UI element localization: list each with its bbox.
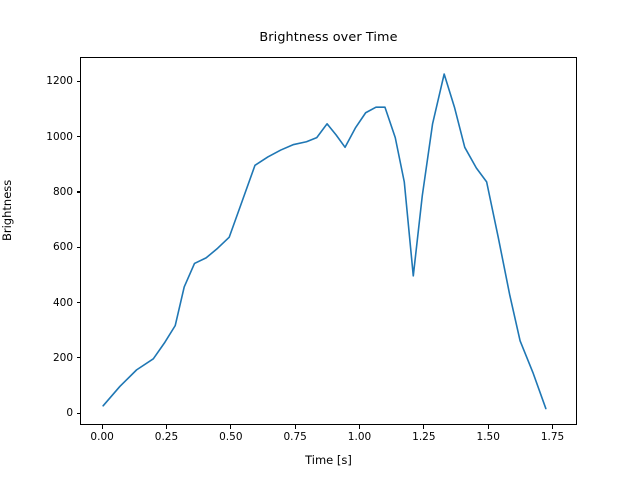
y-tick-mark	[77, 247, 81, 248]
y-tick-mark	[77, 413, 81, 414]
x-tick-mark	[488, 425, 489, 429]
y-tick-label: 400	[53, 297, 73, 309]
figure-canvas: Brightness over Time 0.000.250.500.751.0…	[0, 0, 640, 480]
x-tick-label: 0.25	[155, 431, 178, 443]
plot-area	[80, 57, 577, 425]
x-tick-mark	[359, 425, 360, 429]
x-tick-label: 1.00	[348, 431, 371, 443]
x-tick-mark	[230, 425, 231, 429]
x-tick-label: 0.00	[90, 431, 113, 443]
x-tick-mark	[166, 425, 167, 429]
x-tick-label: 0.50	[219, 431, 242, 443]
y-tick-mark	[77, 191, 81, 192]
x-axis-label: Time [s]	[80, 453, 577, 467]
x-tick-mark	[102, 425, 103, 429]
x-tick-label: 1.75	[541, 431, 564, 443]
y-axis-label: Brightness	[0, 180, 14, 241]
y-tick-label: 800	[53, 186, 73, 198]
y-tick-mark	[77, 357, 81, 358]
y-tick-label: 0	[66, 407, 73, 419]
x-tick-label: 0.75	[283, 431, 306, 443]
x-tick-label: 1.50	[477, 431, 500, 443]
line-series-svg	[81, 58, 578, 426]
x-tick-mark	[295, 425, 296, 429]
y-tick-label: 1200	[46, 75, 73, 87]
page-title: Brightness over Time	[80, 30, 577, 45]
x-tick-label: 1.25	[412, 431, 435, 443]
y-tick-mark	[77, 136, 81, 137]
y-tick-label: 200	[53, 352, 73, 364]
y-tick-label: 1000	[46, 131, 73, 143]
y-tick-label: 600	[53, 241, 73, 253]
y-tick-mark	[77, 81, 81, 82]
y-tick-mark	[77, 302, 81, 303]
data-line-brightness	[103, 74, 546, 409]
x-tick-mark	[552, 425, 553, 429]
x-tick-mark	[423, 425, 424, 429]
